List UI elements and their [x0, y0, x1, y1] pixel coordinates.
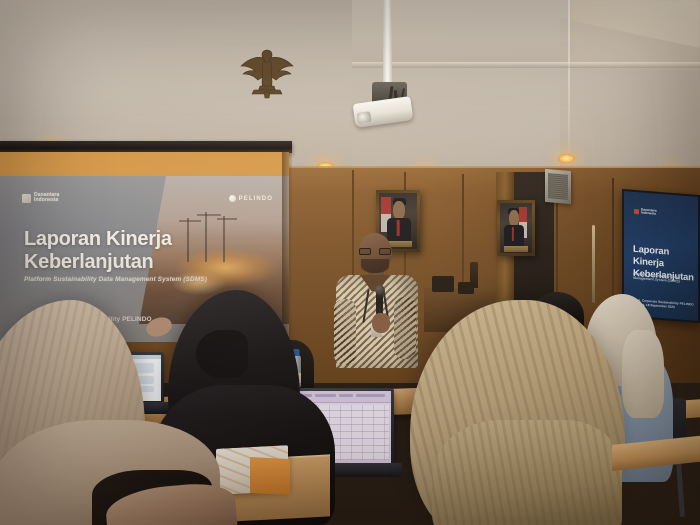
gantry-crane [187, 218, 189, 262]
presenter [332, 233, 428, 368]
presenter-left-arm [334, 299, 356, 365]
portrait-face [509, 210, 519, 226]
portrait-face [393, 201, 404, 219]
lanyard-strap [362, 289, 369, 323]
pelindo-logo-text: PELINDO [239, 196, 273, 202]
slide-title-line1: Laporan Kinerja [24, 228, 172, 250]
slide-title: Laporan Kinerja Keberlanjutan [24, 228, 172, 274]
door-handle [592, 225, 595, 303]
toolbar-group[interactable] [356, 394, 385, 397]
portrait-nameplate [504, 246, 528, 252]
snack-box [216, 445, 288, 495]
toolbar-group[interactable] [315, 394, 337, 397]
secondary-logo-mark [634, 209, 639, 214]
screen-right-edge-shadow [282, 150, 292, 346]
crane-arm [217, 218, 237, 220]
side-table-object [458, 282, 474, 294]
crane-arm [197, 214, 221, 216]
gantry-crane [205, 212, 207, 262]
chair-leg [676, 462, 685, 517]
secondary-brand-line2: Indonesia [641, 211, 656, 216]
microphone-head [375, 285, 385, 295]
pelindo-logo: PELINDO [229, 195, 273, 202]
eyeglasses-icon [359, 248, 391, 255]
projector-lens [356, 111, 371, 124]
secondary-title-line1: Laporan Kinerja [633, 244, 669, 269]
danantara-logo-text: Danantara Indonesia [34, 193, 59, 204]
attendee-tan-hijab-drape [432, 420, 622, 525]
side-table-object [432, 276, 454, 292]
vice-president-portrait [497, 200, 535, 256]
attendee-black-hijab-arm [196, 330, 248, 378]
attendee-cream-hijab-drape [622, 330, 664, 418]
portrait-tie [512, 227, 514, 241]
presenter-hand [372, 313, 390, 333]
slide-title-line2: Keberlanjutan [24, 251, 153, 273]
pelindo-logo-mark [229, 195, 236, 202]
speaker-grille [548, 173, 568, 200]
snack-box-front-panel [250, 457, 290, 495]
presenter-right-arm [394, 297, 416, 359]
danantara-line1: Danantara [34, 192, 59, 198]
slide-subtitle: Platform Sustainability Data Management … [24, 276, 207, 283]
danantara-logo-mark [22, 194, 31, 203]
danantara-line2: Indonesia [34, 197, 58, 203]
gantry-crane [223, 216, 225, 262]
secondary-danantara-logo: Danantara Indonesia [634, 208, 657, 217]
danantara-logo: Danantara Indonesia [22, 193, 59, 204]
crane-arm [179, 220, 201, 222]
ceiling-downlight [558, 154, 575, 163]
garuda-pancasila-emblem [236, 38, 298, 100]
secondary-logo-text: Danantara Indonesia [641, 208, 657, 216]
toolbar-group[interactable] [339, 394, 353, 397]
conference-room-photo: Danantara Indonesia PELINDO Laporan Kine… [0, 0, 700, 525]
projector-mount-pole [383, 0, 392, 90]
soffit-lip [352, 62, 700, 68]
presenter-beard [361, 259, 389, 273]
wall-speaker [545, 169, 571, 204]
